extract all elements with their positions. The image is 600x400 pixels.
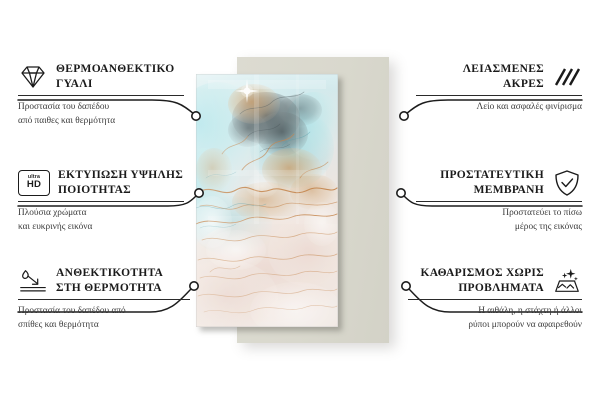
feature-high-quality-print: ultra HD ΕΚΤΥΠΩΣΗ ΥΨΗΛΗΣ ΠΟΙΟΤΗΤΑΣ Πλούσ… [18, 168, 184, 234]
connector-node-right-top [400, 112, 408, 120]
feature-heat-resistance: ΑΝΘΕΚΤΙΚΟΤΗΤΑ ΣΤΗ ΘΕΡΜΟΤΗΤΑ Προστασία το… [18, 266, 190, 332]
feature-title: ΘΕΡΜΟΑΝΘΕΚΤΙΚΟ ΓΥΑΛΙ [56, 62, 175, 91]
feature-easy-cleaning: ΚΑΘΑΡΙΣΜΟΣ ΧΩΡΙΣ ΠΡΟΒΛΗΜΑΤΑ Η αιθάλη, η … [408, 266, 582, 332]
feature-desc-line2: από παιθες και θερμότητα [18, 115, 184, 128]
feature-protective-membrane: ΠΡΟΣΤΑΤΕΥΤΙΚΗ ΜΕΜΒΡΑΝΗ Προστατεύει το πί… [416, 168, 582, 234]
feature-heading: ΚΑΘΑΡΙΣΜΟΣ ΧΩΡΙΣ ΠΡΟΒΛΗΜΑΤΑ [408, 266, 582, 295]
feature-desc-line1: Προστασία του δαπέδου [18, 101, 184, 114]
hd-label: HD [27, 180, 41, 190]
feature-title: ΑΝΘΕΚΤΙΚΟΤΗΤΑ ΣΤΗ ΘΕΡΜΟΤΗΤΑ [56, 266, 163, 295]
feature-title-line2: ΠΡΟΒΛΗΜΑΤΑ [420, 281, 544, 296]
connector-node-left-middle [195, 189, 203, 197]
feature-description: Η αιθάλη, η στάχτη ή άλλοι ρύποι μπορούν… [408, 305, 582, 332]
feature-divider [18, 95, 184, 96]
feature-description: Προστασία του δαπέδου από παιθες και θερ… [18, 101, 184, 128]
feature-title-line1: ΑΝΘΕΚΤΙΚΟΤΗΤΑ [56, 266, 163, 281]
feature-desc-line2: και ευκρινής εικόνα [18, 221, 184, 234]
feature-title-line1: ΕΚΤΥΠΩΣΗ ΥΨΗΛΗΣ [58, 168, 183, 183]
feature-title-line2: ΜΕΜΒΡΑΝΗ [440, 183, 544, 198]
diamond-icon [18, 63, 48, 91]
feature-divider [408, 299, 582, 300]
ultra-hd-icon: ultra HD [18, 170, 50, 196]
feature-title-line2: ΠΟΙΟΤΗΤΑΣ [58, 183, 183, 198]
shield-check-icon [552, 169, 582, 197]
feature-heading: ultra HD ΕΚΤΥΠΩΣΗ ΥΨΗΛΗΣ ΠΟΙΟΤΗΤΑΣ [18, 168, 184, 197]
feature-desc-line2: σπίθες και θερμότητα [18, 319, 190, 332]
feature-title-line2: ΣΤΗ ΘΕΡΜΟΤΗΤΑ [56, 281, 163, 296]
feature-polished-edges: ΛΕΙΑΣΜΕΝΕΣ ΑΚΡΕΣ Λείο και ασφαλές φινίρι… [416, 62, 582, 115]
feature-desc-line1: Η αιθάλη, η στάχτη ή άλλοι [408, 305, 582, 318]
feature-heading: ΛΕΙΑΣΜΕΝΕΣ ΑΚΡΕΣ [416, 62, 582, 91]
feature-heat-resistant-glass: ΘΕΡΜΟΑΝΘΕΚΤΙΚΟ ΓΥΑΛΙ Προστασία του δαπέδ… [18, 62, 184, 128]
connector-node-left-top [192, 112, 200, 120]
feature-title: ΛΕΙΑΣΜΕΝΕΣ ΑΚΡΕΣ [463, 62, 544, 91]
feature-desc-line1: Λείο και ασφαλές φινίρισμα [416, 101, 582, 114]
feature-title-line1: ΘΕΡΜΟΑΝΘΕΚΤΙΚΟ [56, 62, 175, 77]
polished-edges-icon [552, 63, 582, 91]
feature-title: ΠΡΟΣΤΑΤΕΥΤΙΚΗ ΜΕΜΒΡΑΝΗ [440, 168, 544, 197]
feature-title-line1: ΚΑΘΑΡΙΣΜΟΣ ΧΩΡΙΣ [420, 266, 544, 281]
feature-description: Πλούσια χρώματα και ευκρινής εικόνα [18, 207, 184, 234]
feature-description: Λείο και ασφαλές φινίρισμα [416, 101, 582, 114]
feature-desc-line2: ρύποι μπορούν να αφαιρεθούν [408, 319, 582, 332]
feature-title: ΕΚΤΥΠΩΣΗ ΥΨΗΛΗΣ ΠΟΙΟΤΗΤΑΣ [58, 168, 183, 197]
feature-title-line1: ΠΡΟΣΤΑΤΕΥΤΙΚΗ [440, 168, 544, 183]
feature-divider [18, 299, 190, 300]
flame-heat-resistance-icon [18, 267, 48, 295]
feature-description: Προστασία του δαπέδου από σπίθες και θερ… [18, 305, 190, 332]
sparkle-clean-icon [552, 267, 582, 295]
feature-title-line2: ΑΚΡΕΣ [463, 77, 544, 92]
feature-divider [416, 201, 582, 202]
connector-node-left-bottom [190, 282, 198, 290]
feature-desc-line1: Προστασία του δαπέδου από [18, 305, 190, 318]
feature-desc-line1: Προστατεύει το πίσω [416, 207, 582, 220]
feature-desc-line1: Πλούσια χρώματα [18, 207, 184, 220]
infographic-stage: ΘΕΡΜΟΑΝΘΕΚΤΙΚΟ ΓΥΑΛΙ Προστασία του δαπέδ… [0, 0, 600, 400]
feature-heading: ΘΕΡΜΟΑΝΘΕΚΤΙΚΟ ΓΥΑΛΙ [18, 62, 184, 91]
feature-title: ΚΑΘΑΡΙΣΜΟΣ ΧΩΡΙΣ ΠΡΟΒΛΗΜΑΤΑ [420, 266, 544, 295]
feature-heading: ΑΝΘΕΚΤΙΚΟΤΗΤΑ ΣΤΗ ΘΕΡΜΟΤΗΤΑ [18, 266, 190, 295]
feature-divider [18, 201, 184, 202]
feature-description: Προστατεύει το πίσω μέρος της εικόνας [416, 207, 582, 234]
feature-heading: ΠΡΟΣΤΑΤΕΥΤΙΚΗ ΜΕΜΒΡΑΝΗ [416, 168, 582, 197]
feature-title-line2: ΓΥΑΛΙ [56, 77, 175, 92]
feature-divider [416, 95, 582, 96]
feature-desc-line2: μέρος της εικόνας [416, 221, 582, 234]
connector-node-right-middle [397, 189, 405, 197]
feature-title-line1: ΛΕΙΑΣΜΕΝΕΣ [463, 62, 544, 77]
